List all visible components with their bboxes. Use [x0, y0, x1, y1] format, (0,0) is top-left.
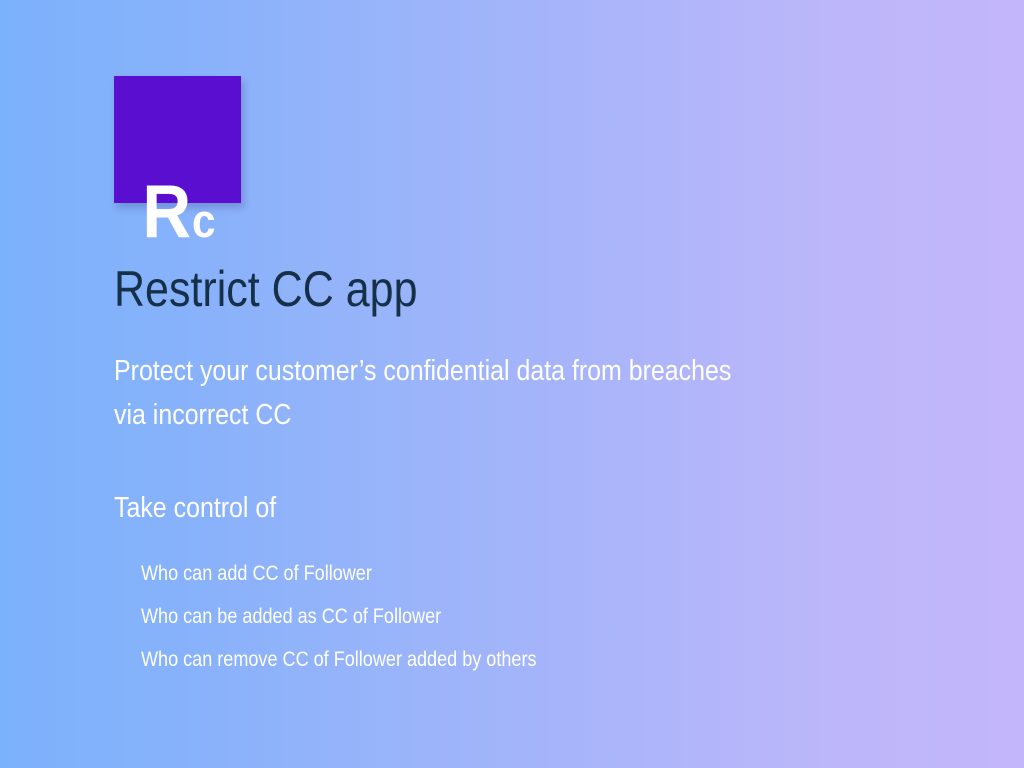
control-feature-list: Who can add CC of Follower Who can be ad… — [141, 552, 537, 681]
list-item: Who can add CC of Follower — [141, 552, 537, 595]
app-logo-icon: Rc — [114, 76, 241, 203]
logo-letter-r: R — [143, 174, 191, 249]
subtitle: Protect your customer’s confidential dat… — [114, 349, 854, 437]
app-logo-tile: Rc — [114, 76, 241, 203]
subtitle-line-1: Protect your customer’s confidential dat… — [114, 349, 854, 393]
logo-letter-c: c — [192, 197, 215, 244]
subtitle-line-2: via incorrect CC — [114, 393, 854, 437]
promo-slide: Rc Restrict CC app Protect your customer… — [0, 0, 1024, 768]
section-heading: Take control of — [114, 493, 276, 525]
list-item: Who can be added as CC of Follower — [141, 595, 537, 638]
list-item: Who can remove CC of Follower added by o… — [141, 638, 537, 681]
page-title: Restrict CC app — [114, 262, 417, 316]
